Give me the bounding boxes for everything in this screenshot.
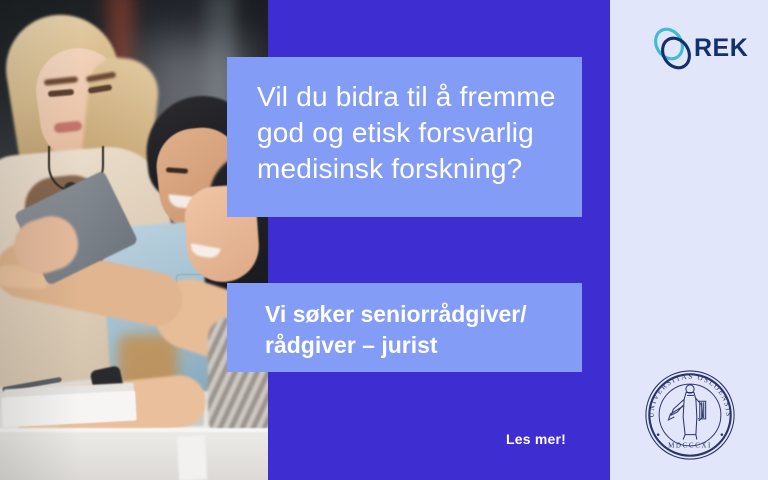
rek-logo[interactable]: REK: [650, 26, 746, 72]
uio-seal-apollo-lyre-icon: UNIVERSITAS OSLOENSIS MDCCCXI: [641, 366, 739, 464]
headline-box: Vil du bidra til å fremme god og etisk f…: [227, 57, 582, 217]
rek-wordmark: REK: [694, 34, 748, 62]
read-more-link[interactable]: Les mer!: [506, 431, 566, 447]
rek-interlocking-loops-icon: [650, 26, 696, 72]
job-title-box: Vi søker seniorrådgiver/ rådgiver – juri…: [227, 283, 582, 372]
svg-text:MDCCCXI: MDCCCXI: [668, 441, 712, 449]
headline-text: Vil du bidra til å fremme god og etisk f…: [257, 79, 567, 187]
job-title-text: Vi søker seniorrådgiver/ rådgiver – juri…: [265, 299, 570, 361]
banner-root: REK UNIVERSITAS OSLOENSIS MDCCCXI Vi: [0, 0, 768, 480]
